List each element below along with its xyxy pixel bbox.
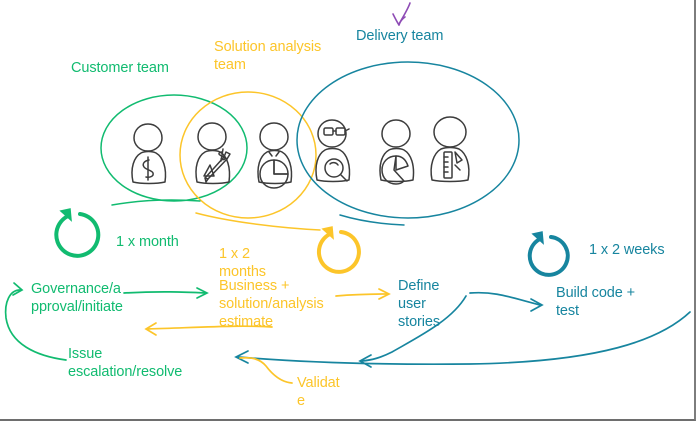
- person-icon-analyst: [316, 120, 350, 182]
- person-icon-budget-holder: [132, 124, 166, 184]
- activity-label-validate: Validat e: [297, 374, 341, 410]
- arrow-delivery-top-stub: [340, 215, 404, 225]
- cadence-label-1x-2weeks: 1 x 2 weeks: [589, 241, 696, 259]
- person-icon-developer-tester: [431, 117, 469, 182]
- team-label-solution-analysis: Solution analysis team: [214, 38, 344, 74]
- arrow-define-to-build: [470, 293, 542, 311]
- arrow-solution-top-stub: [196, 213, 320, 230]
- person-icon-scrum-master: [380, 120, 414, 184]
- activity-label-issue-escalation-resolve: Issue escalation/resolve: [68, 345, 213, 381]
- circular-arrow-icon-1x-month: [56, 209, 98, 256]
- activity-label-business-solution-analysis-estimate: Business + solution/analysis estimate: [219, 277, 329, 331]
- arrow-business-to-define: [336, 289, 389, 299]
- cadence-label-1x-2months: 1 x 2 months: [219, 245, 285, 281]
- person-icon-estimator: [196, 123, 230, 184]
- arrow-governance-to-business: [124, 288, 207, 298]
- team-label-customer: Customer team: [71, 59, 191, 77]
- activity-label-define-user-stories: Define user stories: [398, 277, 450, 331]
- activity-label-build-code-test: Build code + test: [556, 284, 646, 320]
- arrow-customer-top-stub: [112, 200, 200, 205]
- cadence-label-1x-month: 1 x month: [116, 233, 216, 251]
- person-icon-product-owner: [258, 123, 292, 188]
- team-ellipse-customer: [101, 95, 247, 201]
- activity-label-governance-approval-initiate: Governance/a pproval/initiate: [31, 280, 127, 316]
- purple-annotation-arrow: [393, 3, 410, 25]
- circular-arrow-icon-1x-2weeks: [530, 232, 568, 275]
- team-label-delivery: Delivery team: [356, 27, 466, 45]
- arrow-validate-hook: [240, 358, 292, 383]
- circular-arrow-icon-1x-2months: [319, 227, 359, 272]
- diagram-canvas: Customer team Solution analysis team Del…: [0, 0, 696, 421]
